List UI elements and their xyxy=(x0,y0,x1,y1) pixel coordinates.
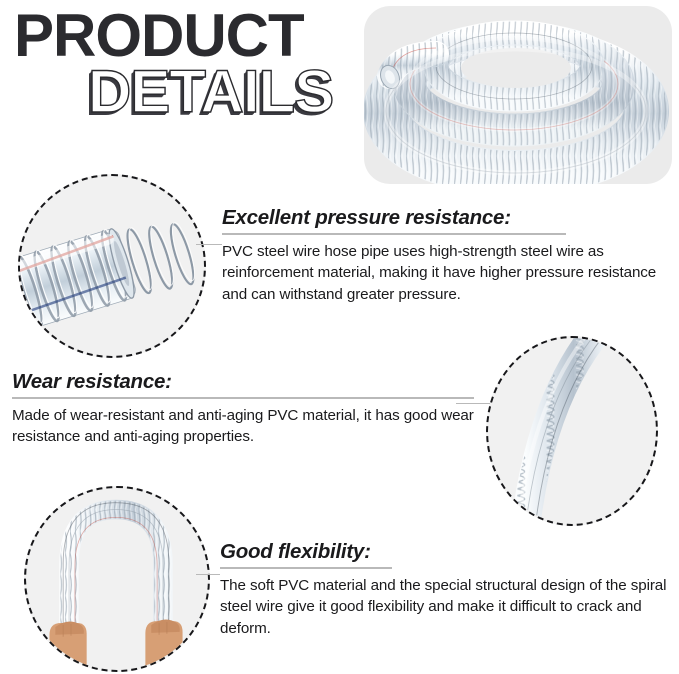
connector-line-pressure-resistance xyxy=(196,244,222,245)
feature-block-wear-resistance: Wear resistance: Made of wear-resistant … xyxy=(12,370,474,448)
curved-hose-illustration xyxy=(488,338,656,524)
feature-underline-rule xyxy=(222,233,566,234)
hands-bending-hose-illustration xyxy=(26,488,208,670)
feature-block-pressure-resistance: Excellent pressure resistance: PVC steel… xyxy=(222,206,674,305)
feature-heading: Good flexibility: xyxy=(220,540,672,564)
page-title-line-2: DETAILS xyxy=(88,62,333,122)
feature-body-text: Made of wear-resistant and anti-aging PV… xyxy=(12,405,474,448)
feature-block-good-flexibility: Good flexibility: The soft PVC material … xyxy=(220,540,672,639)
right-hand xyxy=(145,620,182,670)
feature-body-text: PVC steel wire hose pipe uses high-stren… xyxy=(222,241,674,306)
feature-photo-wear-resistance xyxy=(486,336,658,526)
page-title: PRODUCT DETAILS xyxy=(0,0,360,150)
feature-heading: Wear resistance: xyxy=(12,370,474,394)
hero-product-photo xyxy=(364,6,672,184)
left-hand xyxy=(49,622,86,670)
product-details-infographic: PRODUCT DETAILS xyxy=(0,0,679,674)
feature-heading: Excellent pressure resistance: xyxy=(222,206,674,230)
feature-underline-rule xyxy=(220,567,392,568)
feature-photo-good-flexibility xyxy=(24,486,210,672)
hose-cutaway-illustration xyxy=(20,176,204,356)
feature-body-text: The soft PVC material and the special st… xyxy=(220,575,672,640)
coiled-hose-illustration xyxy=(364,6,672,184)
page-title-line-1: PRODUCT xyxy=(14,6,304,66)
feature-photo-pressure-resistance xyxy=(18,174,206,358)
feature-underline-rule xyxy=(12,397,474,398)
connector-line-good-flexibility xyxy=(196,574,220,575)
